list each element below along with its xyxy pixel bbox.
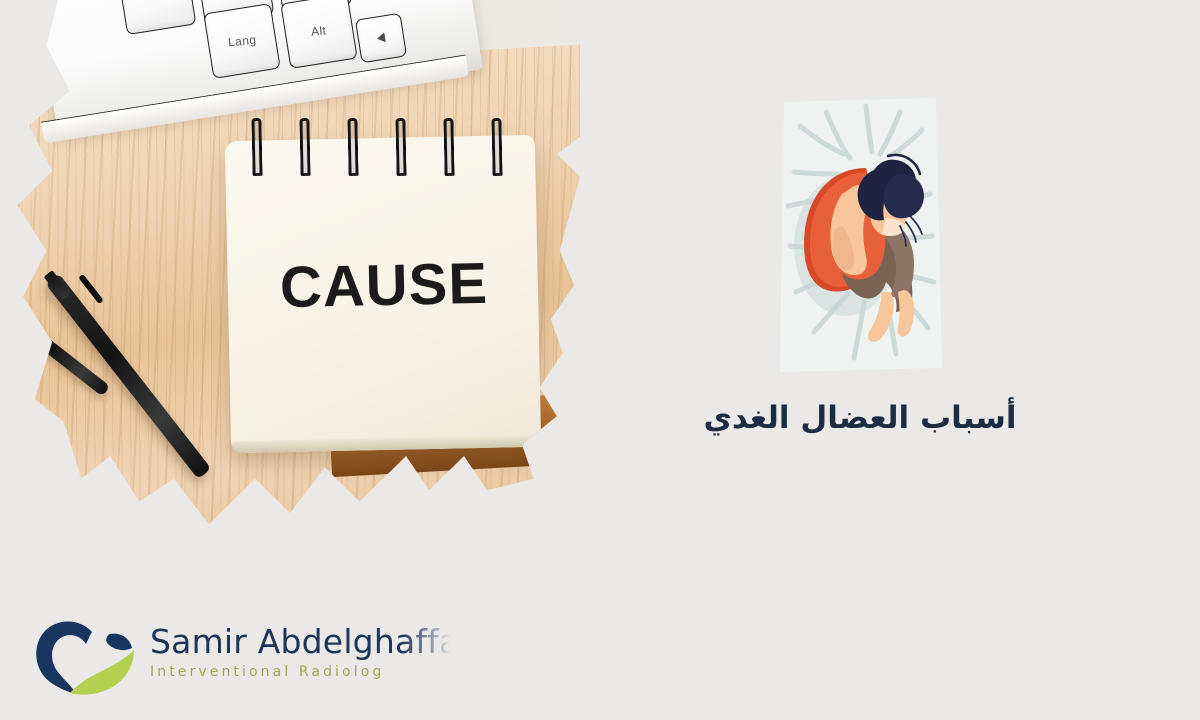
page-canvas: Lang Alt CAUSE [0,0,1200,720]
spiral-ring-3 [347,118,358,176]
page-title: أسباب العضال الغدي [600,398,1120,440]
spiral-ring-4 [395,118,406,176]
spiral-ring-2 [299,118,310,176]
keyboard-key-alt-label: Alt [311,23,328,39]
spiral-ring-6 [491,118,502,176]
notepad-cause-text: CAUSE [227,249,540,323]
logo-heart-leaf-icon [30,616,142,698]
arrow-left-icon [376,32,385,43]
logo-green-leaf [70,650,134,695]
cause-notepad-photo: Lang Alt CAUSE [0,0,580,570]
photo-background: Lang Alt CAUSE [0,0,580,570]
logo-navy-leaf-tip [106,634,132,650]
spiral-ring-1 [251,118,262,176]
keyboard-key-arrow-left [355,13,407,64]
keyboard-key-lang: Lang [203,3,280,79]
keyboard-key-alt: Alt [280,0,357,69]
logo-text-block: Samir Abdelghaffar Interventional Radiol… [150,622,450,680]
logo-name: Samir Abdelghaffar [150,622,450,661]
spiral-ring-5 [443,118,454,176]
site-logo[interactable]: Samir Abdelghaffar Interventional Radiol… [30,612,450,704]
woman-in-pain-illustration [770,96,950,376]
logo-tagline: Interventional Radiolog [150,664,450,680]
keyboard-key-lang-label: Lang [227,33,257,50]
